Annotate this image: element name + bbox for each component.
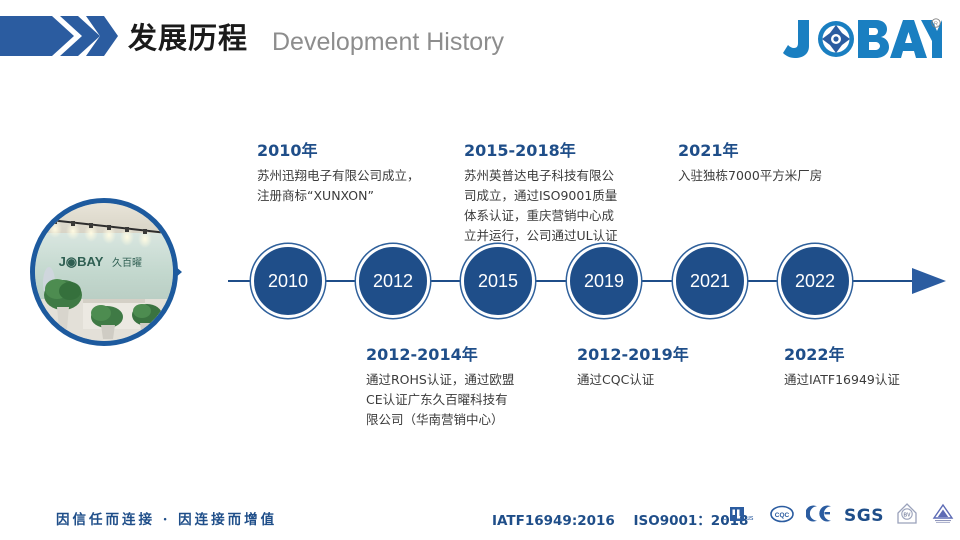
milestone-year: 2010年 (257, 137, 457, 161)
chevron-arrow-mark-icon (0, 14, 118, 58)
svg-text:久百曜: 久百曜 (112, 257, 142, 269)
ce-mark-icon (806, 504, 832, 528)
milestone-line: 体系认证，重庆营销中心成 (464, 206, 664, 226)
page-title: 发展历程 (128, 18, 248, 58)
timeline-node-2019[interactable]: 2019 (570, 247, 638, 315)
milestone-line: 注册商标“XUNXON” (257, 186, 457, 206)
milestone-description: 苏州迅翔电子有限公司成立， 注册商标“XUNXON” (257, 166, 457, 206)
milestone-line: 司成立，通过ISO9001质量 (464, 186, 664, 206)
cert-label-iatf: IATF16949:2016 (492, 513, 615, 529)
milestone-description: 通过IATF16949认证 (784, 370, 960, 390)
timeline-node-2015[interactable]: 2015 (464, 247, 532, 315)
milestone-description: 苏州英普达电子科技有限公 司成立，通过ISO9001质量 体系认证，重庆营销中心… (464, 166, 664, 246)
milestone-line: 限公司（华南营销中心） (366, 410, 566, 430)
milestone-block-2021: 2021年 入驻独栋7000平方米厂房 (678, 137, 908, 186)
company-photo-callout: J◉BAY 久百曜 (14, 198, 244, 346)
milestone-block-2012-2014: 2012-2014年 通过ROHS认证，通过欧盟 CE认证广东久百曜科技有 限公… (366, 341, 566, 430)
milestone-description: 入驻独栋7000平方米厂房 (678, 166, 908, 186)
company-photo: J◉BAY 久百曜 (30, 198, 178, 346)
milestone-block-2015-2018: 2015-2018年 苏州英普达电子科技有限公 司成立，通过ISO9001质量 … (464, 137, 664, 246)
milestone-line: 苏州英普达电子科技有限公 (464, 166, 664, 186)
sgs-mark-icon: SGS (844, 506, 884, 526)
milestone-line: CE认证广东久百曜科技有 (366, 390, 566, 410)
milestone-year: 2022年 (784, 341, 960, 365)
timeline-node-2012[interactable]: 2012 (359, 247, 427, 315)
ul-mark-icon: c us (722, 504, 758, 529)
milestone-block-2010: 2010年 苏州迅翔电子有限公司成立， 注册商标“XUNXON” (257, 137, 457, 206)
page-subtitle: Development History (272, 23, 504, 61)
cqc-mark-icon: CQC (770, 505, 794, 528)
milestone-year: 2021年 (678, 137, 908, 161)
timeline-node-label: 2010 (268, 271, 308, 292)
slide-development-history: 发展历程 Development History R (0, 0, 960, 540)
timeline-node-label: 2022 (795, 271, 835, 292)
milestone-block-2012-2019: 2012-2019年 通过CQC认证 (577, 341, 777, 390)
company-slogan: 因信任而连接 · 因连接而增值 (56, 508, 277, 528)
milestone-line: 通过CQC认证 (577, 370, 777, 390)
timeline-node-label: 2012 (373, 271, 413, 292)
milestone-line: 苏州迅翔电子有限公司成立， (257, 166, 457, 186)
svg-text:CQC: CQC (775, 512, 790, 519)
tuv-mark-icon (930, 502, 956, 531)
slide-header: 发展历程 Development History R (0, 0, 960, 75)
timeline-node-2010[interactable]: 2010 (254, 247, 322, 315)
svg-text:R: R (934, 22, 938, 28)
svg-text:BV: BV (903, 512, 911, 518)
svg-text:J◉BAY: J◉BAY (59, 254, 104, 269)
timeline-node-2021[interactable]: 2021 (676, 247, 744, 315)
milestone-line: 通过IATF16949认证 (784, 370, 960, 390)
milestone-description: 通过CQC认证 (577, 370, 777, 390)
svg-text:us: us (746, 515, 754, 522)
milestone-line: 通过ROHS认证，通过欧盟 (366, 370, 566, 390)
timeline-node-label: 2015 (478, 271, 518, 292)
milestone-description: 通过ROHS认证，通过欧盟 CE认证广东久百曜科技有 限公司（华南营销中心） (366, 370, 566, 430)
timeline-node-label: 2021 (690, 271, 730, 292)
certification-icons: c us CQC SGS BV (722, 503, 956, 529)
milestone-year: 2012-2019年 (577, 341, 777, 365)
timeline-node-2022[interactable]: 2022 (781, 247, 849, 315)
milestone-line: 入驻独栋7000平方米厂房 (678, 166, 908, 186)
milestone-block-2022: 2022年 通过IATF16949认证 (784, 341, 960, 390)
svg-text:c: c (723, 515, 727, 522)
timeline-node-label: 2019 (584, 271, 624, 292)
bv-mark-icon: BV (896, 502, 918, 531)
jobay-logo: R (782, 16, 942, 62)
arrow-right-icon (912, 264, 948, 298)
milestone-year: 2015-2018年 (464, 137, 664, 161)
milestone-year: 2012-2014年 (366, 341, 566, 365)
milestone-line: 立并运行，公司通过UL认证 (464, 226, 664, 246)
